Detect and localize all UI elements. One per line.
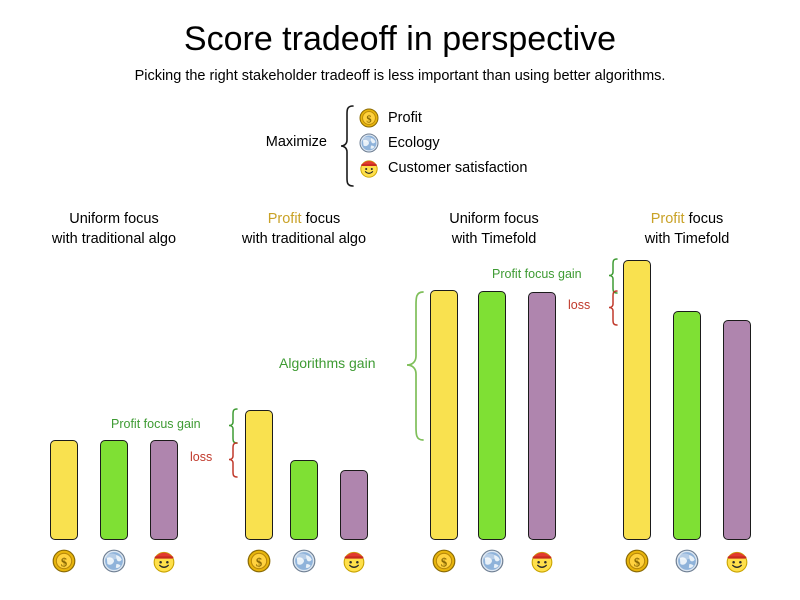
legend-item-label: Ecology [388, 135, 440, 151]
smiley-hardhat-icon [152, 549, 176, 573]
bar-ecology-profit-timefold [673, 311, 701, 540]
globe-icon [480, 549, 504, 573]
group-heading-focus-word: Uniform [449, 211, 500, 227]
curly-brace-icon [333, 104, 355, 188]
globe-icon [675, 549, 699, 573]
legend-item-label: Profit [388, 110, 422, 126]
group-heading-uniform-timefold: Uniform focus with Timefold [389, 209, 599, 249]
group-heading-focus-suffix: focus [500, 211, 539, 227]
svg-text:$: $ [256, 555, 262, 569]
smiley-hardhat-icon [530, 549, 554, 573]
brace-loss-traditional-icon [220, 441, 240, 484]
group-heading-focus-suffix: focus [302, 211, 341, 227]
annotation-loss-timefold: loss [568, 298, 590, 313]
brace-loss-timefold-icon [600, 289, 620, 332]
globe-icon [292, 549, 316, 573]
group-heading-line2: with traditional algo [199, 229, 409, 249]
money-coin-icon: $ [432, 549, 456, 573]
group-heading-focus-word: Profit [651, 211, 685, 227]
bar-profit-uniform-traditional [50, 440, 78, 540]
group-heading-profit-traditional: Profit focus with traditional algo [199, 209, 409, 249]
legend-item-customer-satisfaction: Customer satisfaction [359, 156, 527, 180]
bar-profit-profit-traditional [245, 410, 273, 540]
legend-item-label: Customer satisfaction [388, 160, 527, 176]
group-heading-focus-suffix: focus [120, 211, 159, 227]
bar-ecology-uniform-traditional [100, 440, 128, 540]
legend: Maximize $ Profit [255, 104, 585, 188]
annotation-profit-focus-gain-timefold: Profit focus gain [492, 267, 582, 282]
page-subtitle: Picking the right stakeholder tradeoff i… [0, 66, 800, 86]
svg-text:$: $ [61, 555, 67, 569]
chart-canvas: Score tradeoff in perspective Picking th… [0, 0, 800, 600]
annotation-algorithms-gain: Algorithms gain [279, 356, 376, 371]
page-title: Score tradeoff in perspective [0, 18, 800, 60]
group-heading-line1: Uniform focus [389, 209, 599, 229]
bar-customer-satisfaction-profit-traditional [340, 470, 368, 540]
annotation-loss-traditional: loss [190, 450, 212, 465]
svg-text:$: $ [366, 114, 371, 125]
money-coin-icon: $ [247, 549, 271, 573]
legend-item-profit: $ Profit [359, 106, 422, 130]
bar-profit-uniform-timefold [430, 290, 458, 540]
legend-title: Maximize [255, 134, 327, 150]
group-heading-line1: Uniform focus [9, 209, 219, 229]
annotation-profit-focus-gain-traditional: Profit focus gain [111, 417, 201, 432]
svg-text:$: $ [634, 555, 640, 569]
group-heading-line2: with Timefold [582, 229, 792, 249]
bar-ecology-profit-traditional [290, 460, 318, 540]
bar-ecology-uniform-timefold [478, 291, 506, 540]
group-heading-focus-word: Uniform [69, 211, 120, 227]
bar-customer-satisfaction-uniform-traditional [150, 440, 178, 540]
globe-icon [102, 549, 126, 573]
smiley-hardhat-icon [359, 158, 379, 178]
group-heading-focus-word: Profit [268, 211, 302, 227]
bar-customer-satisfaction-uniform-timefold [528, 292, 556, 540]
group-heading-line2: with traditional algo [9, 229, 219, 249]
group-heading-line1: Profit focus [199, 209, 409, 229]
bar-profit-profit-timefold [623, 260, 651, 540]
group-heading-line2: with Timefold [389, 229, 599, 249]
svg-text:$: $ [441, 555, 447, 569]
brace-algorithms-gain-icon [400, 289, 426, 448]
group-heading-uniform-traditional: Uniform focus with traditional algo [9, 209, 219, 249]
smiley-hardhat-icon [725, 549, 749, 573]
money-coin-icon: $ [52, 549, 76, 573]
group-heading-profit-timefold: Profit focus with Timefold [582, 209, 792, 249]
smiley-hardhat-icon [342, 549, 366, 573]
legend-item-ecology: Ecology [359, 131, 440, 155]
bar-customer-satisfaction-profit-timefold [723, 320, 751, 540]
group-heading-focus-suffix: focus [685, 211, 724, 227]
globe-icon [359, 133, 379, 153]
money-coin-icon: $ [625, 549, 649, 573]
money-coin-icon: $ [359, 108, 379, 128]
group-heading-line1: Profit focus [582, 209, 792, 229]
